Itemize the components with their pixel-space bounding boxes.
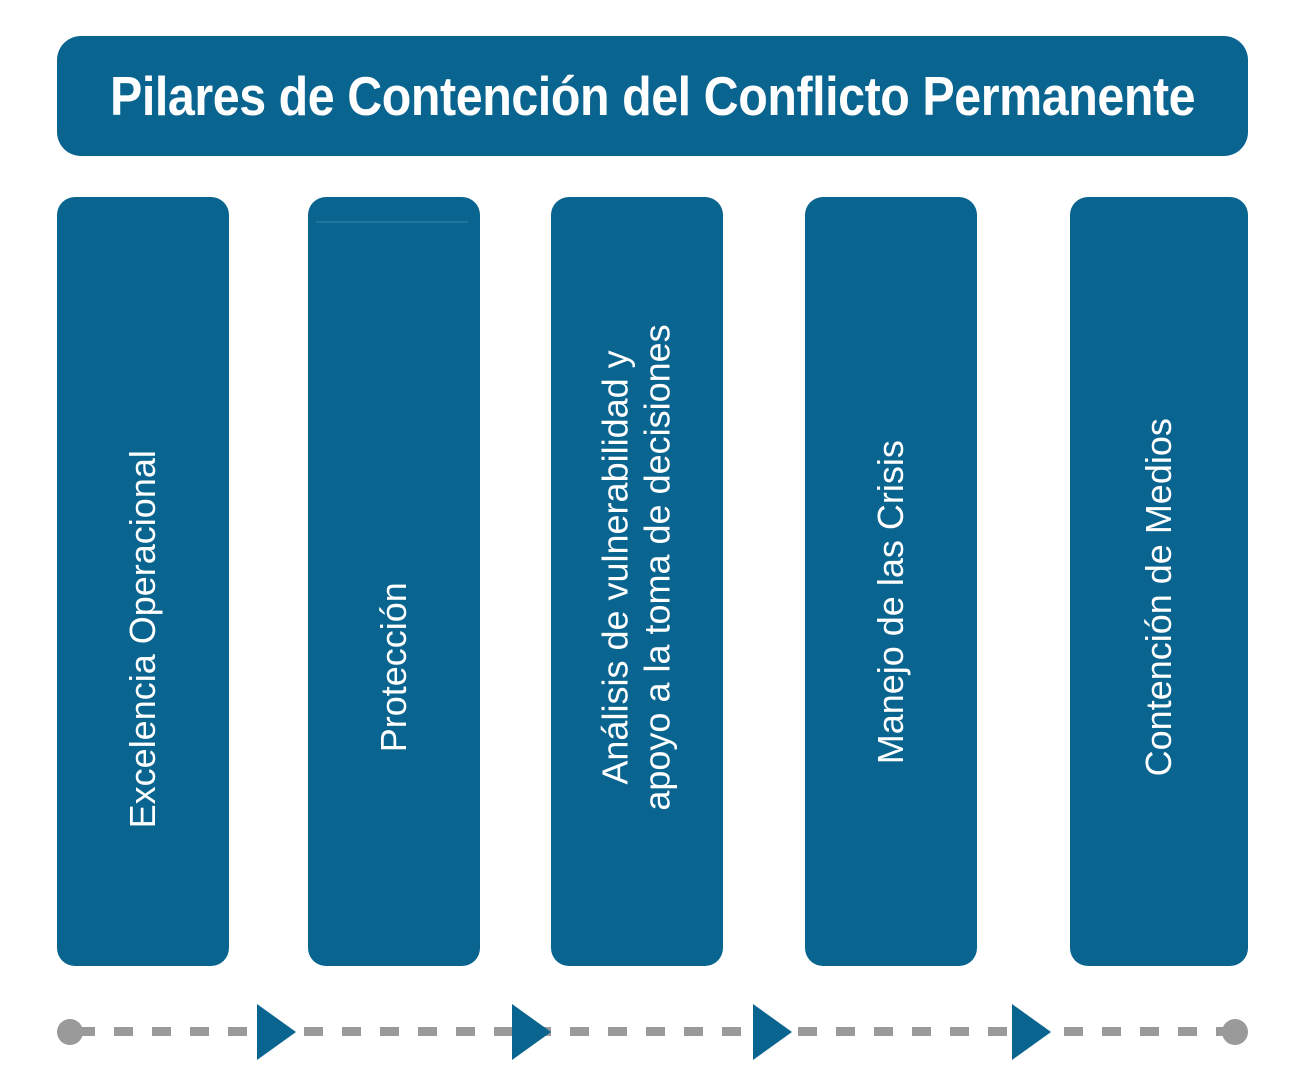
dashed-line	[76, 1027, 1231, 1036]
pillar-label-manejo-crisis: Manejo de las Crisis	[870, 440, 912, 764]
pillar-label-contencion-medios: Contención de Medios	[1138, 418, 1180, 776]
pillar-label-line-1: Análisis de vulnerabilidad y	[595, 350, 636, 784]
pillar-label-area: Análisis de vulnerabilidad y apoyo a la …	[551, 217, 723, 917]
pillar-label-area: Manejo de las Crisis	[805, 322, 977, 882]
arrow-right-icon-4	[1012, 1004, 1051, 1060]
pillar-label-area: Excelencia Operacional	[57, 359, 229, 919]
pillar-label-area: Protección	[308, 457, 480, 877]
pillar-label-analisis-vulnerabilidad: Análisis de vulnerabilidad y apoyo a la …	[595, 324, 680, 810]
pillar-label-line-2: apoyo a la toma de decisiones	[637, 324, 678, 810]
start-dot-icon	[57, 1019, 83, 1045]
pillar-contencion-medios[interactable]: Contención de Medios	[1070, 197, 1248, 966]
pillar-analisis-vulnerabilidad[interactable]: Análisis de vulnerabilidad y apoyo a la …	[551, 197, 723, 966]
progress-connector	[0, 1002, 1300, 1062]
pillar-label-proteccion: Protección	[373, 582, 415, 752]
arrow-right-icon-2	[512, 1004, 551, 1060]
scanline-artifact	[316, 221, 468, 223]
pillar-label-excelencia-operacional: Excelencia Operacional	[122, 450, 164, 828]
pillar-label-area: Contención de Medios	[1070, 307, 1248, 887]
pillar-manejo-crisis[interactable]: Manejo de las Crisis	[805, 197, 977, 966]
pillars-row: Excelencia Operacional Protección Anális…	[57, 197, 1248, 966]
title-banner: Pilares de Contención del Conflicto Perm…	[57, 36, 1248, 156]
page-title: Pilares de Contención del Conflicto Perm…	[110, 69, 1195, 124]
pillar-proteccion[interactable]: Protección	[308, 197, 480, 966]
arrow-right-icon-1	[257, 1004, 296, 1060]
end-dot-icon	[1222, 1019, 1248, 1045]
pillar-excelencia-operacional[interactable]: Excelencia Operacional	[57, 197, 229, 966]
diagram-canvas: Pilares de Contención del Conflicto Perm…	[0, 0, 1300, 1091]
arrow-right-icon-3	[753, 1004, 792, 1060]
